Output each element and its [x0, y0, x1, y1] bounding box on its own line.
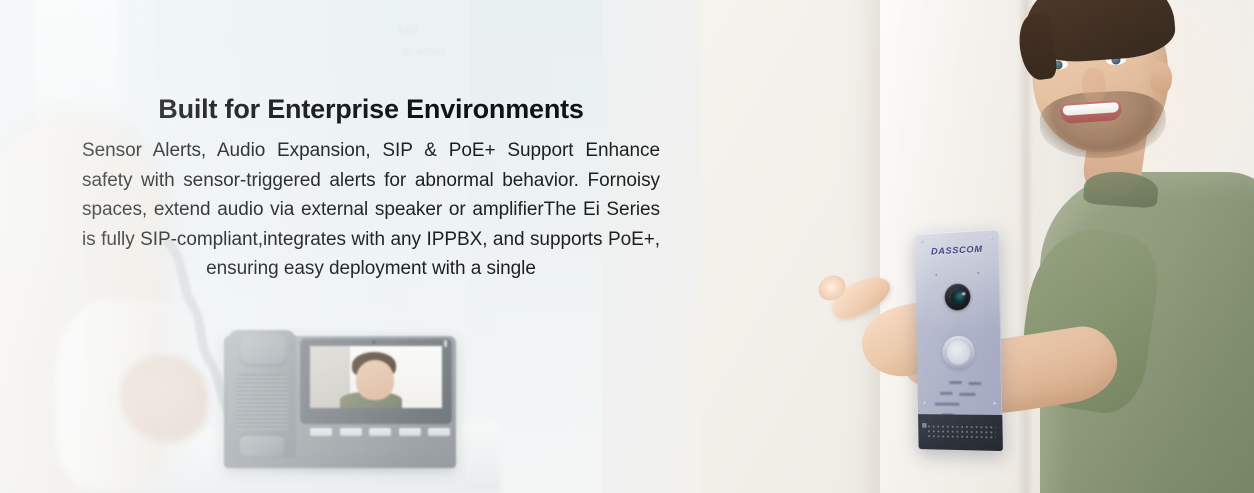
door-intercom-unit[interactable]: DASSCOM: [915, 229, 1003, 451]
softkey-3[interactable]: [369, 428, 391, 436]
softkey-row[interactable]: [310, 428, 450, 440]
label-mark-4: [959, 393, 975, 396]
page-body-copy: Sensor Alerts, Audio Expansion, SIP & Po…: [82, 136, 660, 284]
label-mark-5: [935, 403, 960, 406]
video-feed-visitor-face: [356, 360, 394, 400]
hero-banner: call to enter call.: [0, 0, 1254, 493]
softkey-4[interactable]: [399, 428, 421, 436]
softkey-5[interactable]: [428, 428, 450, 436]
phone-status-led: [444, 340, 447, 347]
phone-screen: [310, 346, 442, 408]
call-button[interactable]: [942, 336, 975, 370]
phone-camera-icon: [372, 340, 376, 344]
intercom-screw-bottom-left: [923, 402, 926, 405]
handset-earpiece: [238, 335, 288, 367]
right-entrance-scene: DASSCOM: [700, 0, 1254, 493]
handset-mouthpiece: [240, 436, 284, 456]
label-mark-2: [969, 382, 982, 385]
hero-text-block: Built for Enterprise Environments Sensor…: [82, 92, 660, 284]
call-button-inner: [947, 341, 970, 365]
camera-lens-glint: [962, 292, 966, 295]
ip-video-desk-phone: [224, 328, 456, 468]
speaker-grille: [918, 414, 1003, 451]
label-mark-3: [940, 392, 952, 395]
label-mark-1: [949, 381, 961, 384]
man-teeth: [1063, 102, 1120, 116]
phone-handset: [228, 330, 296, 458]
man-beard: [1038, 89, 1167, 162]
intercom-screw-bottom-right: [993, 402, 996, 405]
speaker-perforations: [927, 424, 996, 440]
softkey-2[interactable]: [340, 428, 362, 436]
handset-grip-texture: [236, 374, 288, 430]
softkey-1[interactable]: [310, 428, 332, 436]
page-title: Built for Enterprise Environments: [82, 92, 660, 126]
man-ear: [1150, 62, 1172, 94]
